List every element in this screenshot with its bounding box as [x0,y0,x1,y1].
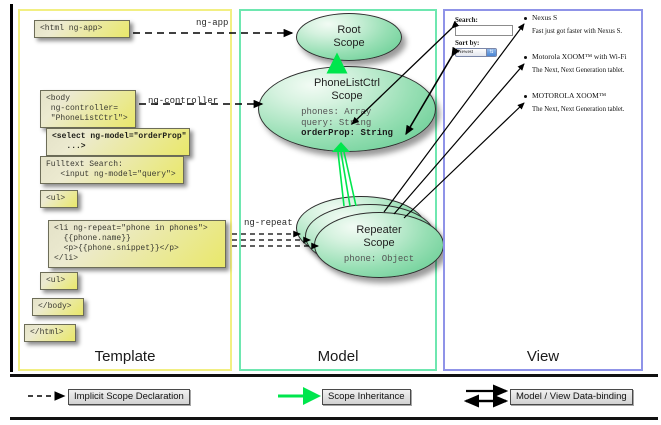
scope-phonelistctrl-title: PhoneListCtrl Scope [314,77,380,103]
panel-model: Model [239,9,437,371]
scope-repeater-props: phone: Object [344,254,414,265]
edge-label-ng-repeat: ng-repeat [244,218,293,228]
prop-phones: phones: Array [301,107,371,117]
edge-label-ng-controller: ng-controller [148,96,218,106]
view-phone-snippet: Fast just got faster with Nexus S. [532,28,622,35]
prop-orderprop: orderProp: String [301,128,393,138]
prop-phone: phone: Object [344,254,414,264]
code-box-li-repeat: <li ng-repeat="phone in phones"> {{phone… [48,220,226,268]
chevron-updown-icon: ⇅ [486,49,496,56]
code-box-ul-open: <ul> [40,190,78,208]
view-search-label: Search: [455,16,478,24]
panel-model-label: Model [241,348,435,365]
view-phone-name[interactable]: Nexus S [532,13,557,22]
prop-query: query: String [301,118,371,128]
view-phone-snippet: The Next, Next Generation tablet. [532,106,624,113]
scope-phonelistctrl-props: phones: Array query: String orderProp: S… [301,107,393,139]
view-phone-snippet: The Next, Next Generation tablet. [532,67,624,74]
diagram-canvas: Template <html ng-app> <body ng-controll… [0,0,661,425]
scope-repeater-title: Repeater Scope [356,224,401,250]
view-sort-label: Sort by: [455,39,479,47]
frame-left-rule [10,4,13,372]
view-sort-selected-value: Newest [458,50,473,55]
panel-template-label: Template [20,348,230,365]
scope-root: Root Scope [296,13,402,61]
scope-phonelistctrl: PhoneListCtrl Scope phones: Array query:… [258,66,436,152]
divider-rule-bottom [10,417,658,420]
scope-root-title: Root Scope [333,24,364,50]
legend-item-scope-inheritance: Scope Inheritance [322,389,411,405]
view-phone-name[interactable]: Motorola XOOM™ with Wi-Fi [532,52,627,61]
code-box-html-close: </html> [24,324,76,342]
legend-item-model-view-data-binding: Model / View Data-binding [510,389,633,405]
code-box-body-close: </body> [32,298,84,316]
list-bullet [524,56,527,59]
scope-repeater: Repeater Scope phone: Object [314,212,444,278]
code-box-body-open: <body ng-controller= "PhoneListCtrl"> [40,90,136,128]
code-box-ul-close: <ul> [40,272,78,290]
view-search-input[interactable] [455,25,513,36]
list-bullet [524,17,527,20]
panel-view-label: View [445,348,641,365]
legend-item-implicit-scope-declaration: Implicit Scope Declaration [68,389,190,405]
view-sort-select[interactable]: Newest ⇅ [455,48,497,57]
code-box-search-input: Fulltext Search: <input ng-model="query"… [40,156,184,184]
panel-view: View [443,9,643,371]
view-phone-name[interactable]: MOTOROLA XOOM™ [532,91,606,100]
code-box-html-open: <html ng-app> [34,20,130,38]
divider-rule-top [10,374,658,377]
code-box-select-tag: <select ng-model="orderProp" ...> [46,128,190,156]
edge-label-ng-app: ng-app [196,18,228,28]
list-bullet [524,95,527,98]
